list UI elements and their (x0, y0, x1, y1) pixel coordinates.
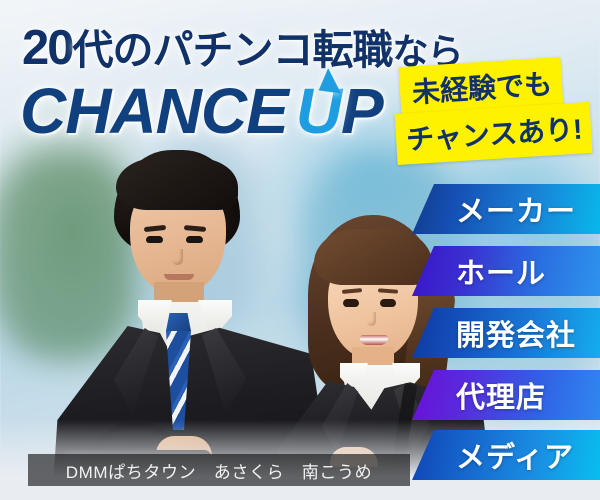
woman-mouth (360, 335, 388, 345)
category-tag-agency[interactable]: 代理店 (412, 370, 600, 420)
man-eye-left (146, 236, 163, 243)
headline-main-text: 代のパチンコ転職 (73, 27, 393, 73)
man-eye-right (186, 236, 203, 243)
category-tag-developer[interactable]: 開発会社 (412, 308, 600, 358)
man-necktie-knot (166, 313, 191, 331)
woman-bangs (314, 229, 432, 285)
category-tag-media[interactable]: メディア (412, 430, 600, 480)
advertisement-banner[interactable]: 20代のパチンコ転職なら CHANCEUP 未経験でも チャンスあり! メーカー… (0, 0, 600, 500)
headline-catchcopy: 20代のパチンコ転職なら (22, 16, 463, 76)
caption-bar: DMMぱちタウン あさくら 南こうめ (28, 454, 410, 486)
category-tag-maker[interactable]: メーカー (412, 184, 600, 234)
logo-letter-p: P (341, 75, 383, 147)
brand-logo[interactable]: CHANCEUP (20, 74, 383, 148)
woman-eye-right (380, 299, 396, 307)
man-hair-front (116, 158, 238, 210)
arrow-up-icon (317, 67, 341, 94)
woman-nose (367, 312, 376, 326)
headline-age-number: 20 (22, 21, 73, 75)
caption-text: DMMぱちタウン あさくら 南こうめ (66, 458, 372, 483)
man-nose (172, 249, 183, 265)
man-mouth (164, 274, 194, 280)
woman-eye-left (343, 299, 359, 307)
category-tag-hall[interactable]: ホール (412, 246, 600, 296)
logo-letter-u: U (296, 74, 341, 148)
logo-word-chance: CHANCE (20, 75, 288, 147)
